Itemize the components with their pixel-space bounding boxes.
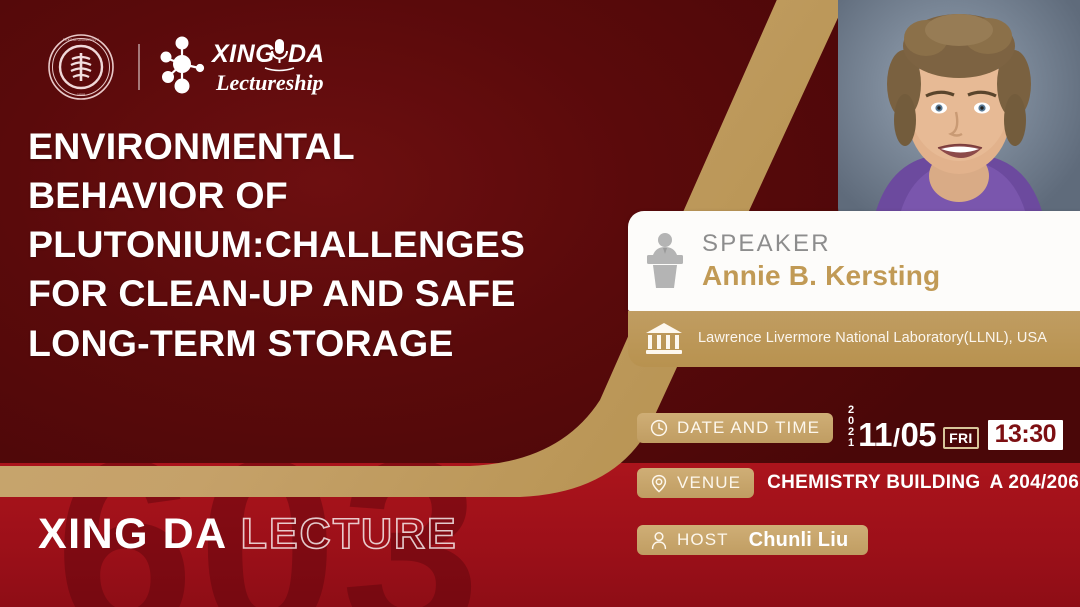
date-separator: / <box>893 426 899 451</box>
date-time-label-pill: DATE AND TIME <box>637 413 833 443</box>
lecture-poster: 603 <box>0 0 1080 607</box>
host-pill: HOST Chunli Liu <box>637 525 868 555</box>
affiliation-text: Lawrence Livermore National Laboratory(L… <box>698 329 1047 348</box>
svg-text:PEKING UNIVERSITY: PEKING UNIVERSITY <box>63 38 100 42</box>
clock-icon <box>650 419 668 437</box>
pku-seal-icon: PEKING UNIVERSITY 1898 <box>46 32 116 102</box>
lecture-title: ENVIRONMENTAL BEHAVIOR OF PLUTONIUM:CHAL… <box>28 122 608 368</box>
series-name-solid: XING DA <box>38 510 228 559</box>
svg-text:1898: 1898 <box>77 93 85 97</box>
person-icon <box>650 531 668 550</box>
xingda-lectureship-logo: XING DA Lectureship <box>160 32 330 102</box>
speaker-card: SPEAKER Annie B. Kersting <box>628 211 1080 311</box>
molecule-icon <box>161 37 204 93</box>
date-monthday: 11 / 05 <box>858 418 936 451</box>
host-row: HOST Chunli Liu <box>637 525 868 555</box>
bank-icon <box>644 321 684 357</box>
podium-icon <box>642 232 688 290</box>
speaker-affiliation-row: Lawrence Livermore National Laboratory(L… <box>628 311 1080 367</box>
host-name: Chunli Liu <box>749 529 849 552</box>
date-time-label: DATE AND TIME <box>677 418 820 438</box>
venue-row: VENUE CHEMISTRY BUILDING A 204/206 <box>637 468 1079 498</box>
title-line-2: BEHAVIOR OF <box>28 171 608 220</box>
event-time: 13:30 <box>988 420 1063 450</box>
venue-label-pill: VENUE <box>637 468 754 498</box>
brand-logo-row: PEKING UNIVERSITY 1898 <box>46 30 330 104</box>
series-name: XING DA LECTURE <box>38 510 458 559</box>
speaker-label: SPEAKER <box>702 230 940 258</box>
svg-text:DA: DA <box>288 40 324 68</box>
location-pin-icon <box>650 474 668 493</box>
speaker-name: Annie B. Kersting <box>702 259 940 293</box>
venue-label: VENUE <box>677 473 741 493</box>
speaker-portrait <box>838 0 1080 222</box>
host-label: HOST <box>677 530 729 550</box>
svg-text:Lectureship: Lectureship <box>215 70 324 95</box>
date-weekday: FRI <box>943 427 978 449</box>
venue-building: CHEMISTRY BUILDING <box>767 472 980 494</box>
svg-text:XING: XING <box>210 40 275 68</box>
date-day: 05 <box>900 418 936 451</box>
title-line-3: PLUTONIUM:CHALLENGES <box>28 220 608 269</box>
title-line-5: LONG-TERM STORAGE <box>28 319 608 368</box>
venue-room: A 204/206 <box>989 472 1079 494</box>
title-line-4: FOR CLEAN-UP AND SAFE <box>28 269 608 318</box>
date-time-row: DATE AND TIME 2021 11 / 05 FRI 13:30 <box>637 404 1063 451</box>
logo-divider <box>138 44 140 90</box>
series-name-outline: LECTURE <box>241 510 458 559</box>
date-month: 11 <box>858 418 892 451</box>
title-line-1: ENVIRONMENTAL <box>28 122 608 171</box>
date-year: 2021 <box>845 404 856 448</box>
